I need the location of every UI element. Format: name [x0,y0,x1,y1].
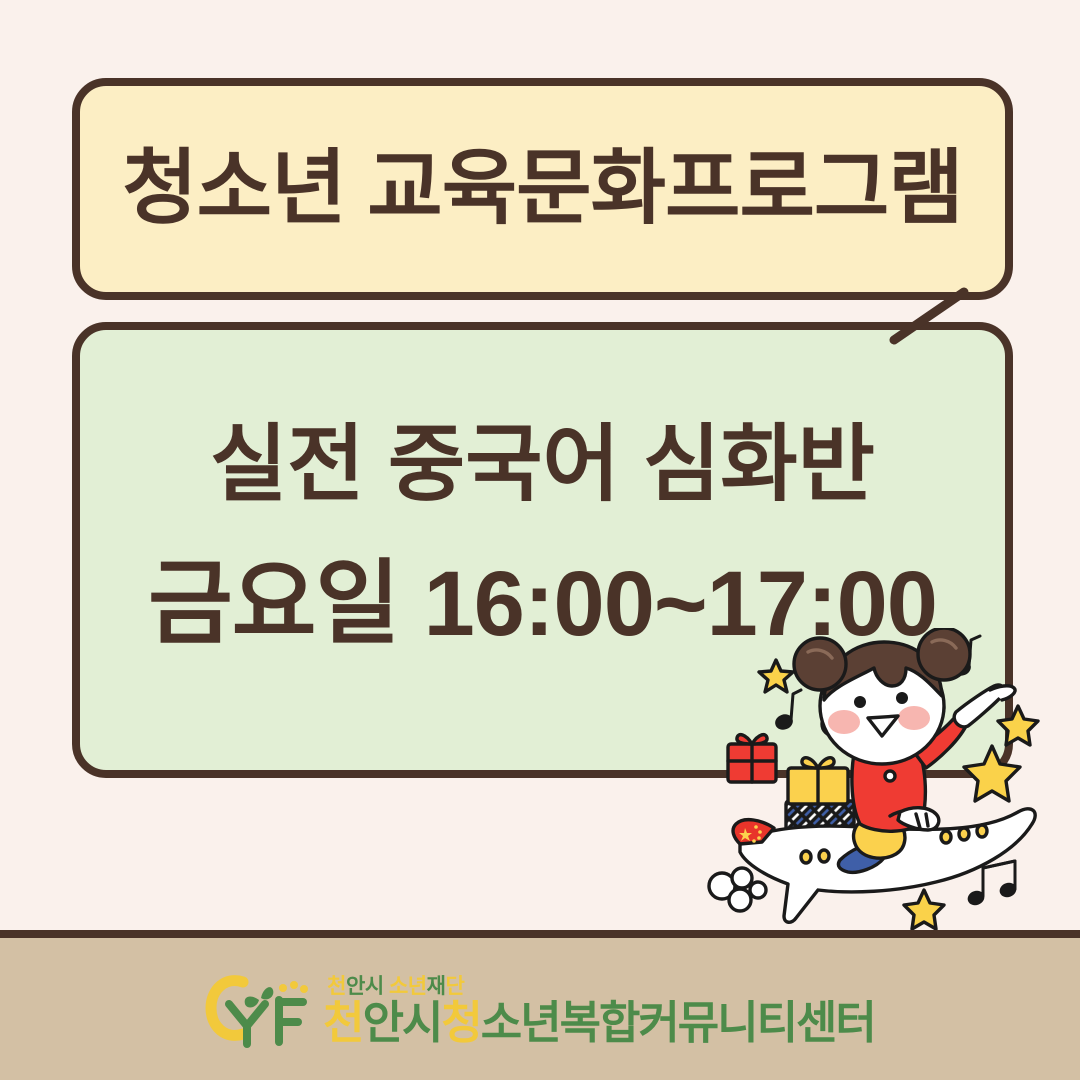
footer-divider [0,930,1080,938]
footer-content: 천안시 소년재단 천안시청소년복합커뮤니티센터 [0,938,1080,1080]
star-icon [904,890,944,929]
foundation-name-part: 천 [327,975,346,998]
program-title: 청소년 교육문화프로그램 [122,148,963,230]
cyf-logo-icon [205,970,309,1048]
course-name: 실전 중국어 심화반 [80,422,1005,506]
content-box: 실전 중국어 심화반 금요일 16:00~17:00 [72,322,1013,778]
airplane-icon [733,809,1035,922]
title-banner: 청소년 교육문화프로그램 [72,78,1013,300]
poster-canvas: 청소년 교육문화프로그램 실전 중국어 심화반 금요일 16:00~17:00 [0,0,1080,1080]
foundation-name-part: 단 [445,975,464,998]
footer-text-block: 천안시 소년재단 천안시청소년복합커뮤니티센터 [323,972,875,1046]
center-name-part: 청 [441,997,480,1048]
course-schedule: 금요일 16:00~17:00 [80,558,1005,650]
music-note-icon [968,861,1017,906]
girl-skirt [854,816,905,858]
center-name-part: 소년복합커뮤니티센터 [481,997,875,1048]
foundation-name: 천안시 소년재단 [323,976,875,997]
cloud-puff-icon [709,868,766,911]
center-name: 천안시청소년복합커뮤니티센터 [323,999,875,1046]
foundation-name-part: 재 [427,975,446,998]
center-name-part: 천 [323,997,362,1048]
foundation-name-part: 소년 [389,975,427,998]
center-name-part: 안시 [363,997,442,1048]
foundation-name-part: 안시 [346,975,384,998]
striped-gift-box-icon [786,801,854,847]
